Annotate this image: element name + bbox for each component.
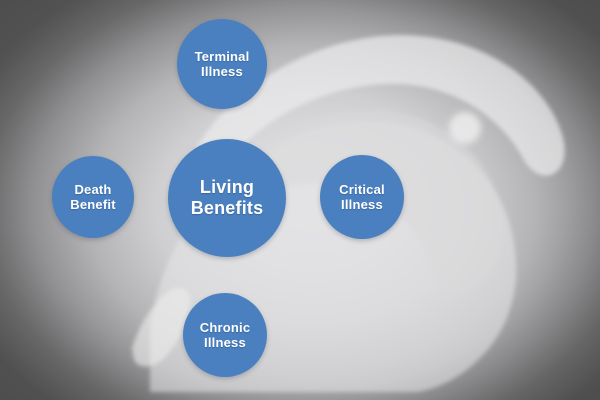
node-terminal-illness-label: Terminal Illness [191, 49, 254, 80]
node-living-benefits[interactable]: Living Benefits [168, 139, 286, 257]
node-chronic-illness[interactable]: Chronic Illness [183, 293, 267, 377]
diagram-canvas: Terminal Illness Death Benefit Critical … [0, 0, 600, 400]
node-chronic-illness-label: Chronic Illness [196, 320, 255, 351]
node-terminal-illness[interactable]: Terminal Illness [177, 19, 267, 109]
node-death-benefit[interactable]: Death Benefit [52, 156, 134, 238]
node-critical-illness[interactable]: Critical Illness [320, 155, 404, 239]
node-living-benefits-label: Living Benefits [187, 177, 268, 219]
node-death-benefit-label: Death Benefit [66, 182, 119, 213]
node-critical-illness-label: Critical Illness [335, 182, 389, 213]
